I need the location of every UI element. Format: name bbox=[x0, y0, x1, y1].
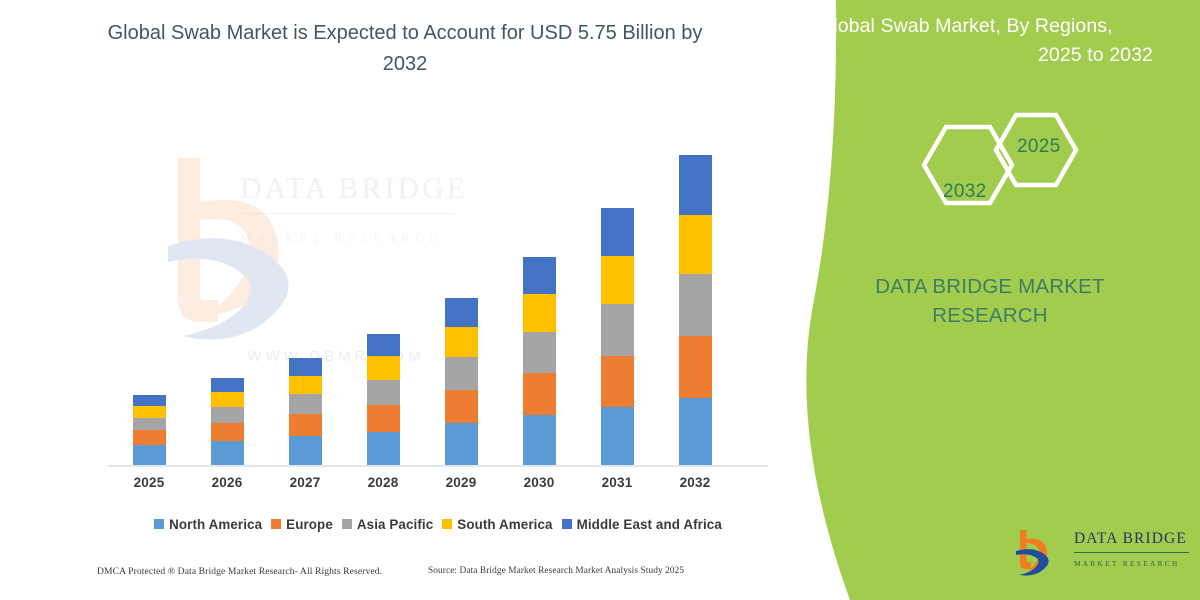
bar-segment-2029-north-america[interactable] bbox=[445, 423, 478, 465]
hexagon-label-2025: 2025 bbox=[1017, 136, 1060, 158]
x-axis-tick-labels: 20252026202720282029203020312032 bbox=[108, 475, 768, 501]
bar-segment-2025-europe[interactable] bbox=[133, 430, 166, 445]
footer: DMCA Protected ® Data Bridge Market Rese… bbox=[0, 566, 790, 590]
bar-segment-2026-south-america[interactable] bbox=[211, 392, 244, 407]
dbmr-logo-divider bbox=[1074, 552, 1189, 553]
x-label-2031: 2031 bbox=[587, 475, 647, 490]
dbmr-logo-tagline-wrap: MARKET RESEARCH bbox=[1074, 554, 1192, 568]
legend-swatch-europe bbox=[271, 519, 281, 529]
panel-brand-line2: RESEARCH bbox=[932, 304, 1048, 327]
legend-item-europe[interactable]: Europe bbox=[271, 517, 333, 532]
bar-segment-2032-europe[interactable] bbox=[679, 336, 712, 397]
bar-segment-2030-asia-pacific[interactable] bbox=[523, 332, 556, 373]
green-panel-content: Global Swab Market, By Regions, 2025 to … bbox=[780, 0, 1200, 600]
bar-2028[interactable] bbox=[367, 334, 400, 465]
legend-label-europe: Europe bbox=[286, 517, 333, 532]
dbmr-logo-mark bbox=[1014, 528, 1070, 578]
stacked-bar-plot bbox=[110, 140, 770, 466]
bar-segment-2030-middle-east-and-africa[interactable] bbox=[523, 257, 556, 294]
bar-segment-2025-south-america[interactable] bbox=[133, 406, 166, 418]
legend-label-north-america: North America bbox=[169, 517, 262, 532]
legend-swatch-south-america bbox=[442, 519, 452, 529]
bar-segment-2026-asia-pacific[interactable] bbox=[211, 407, 244, 423]
bar-segment-2028-south-america[interactable] bbox=[367, 356, 400, 380]
hexagon-label-2032: 2032 bbox=[943, 181, 986, 203]
bar-2025[interactable] bbox=[133, 395, 166, 465]
infographic-canvas: DATA BRIDGE MARKET RESEARCH WWW.DBMR.COM… bbox=[0, 0, 1200, 600]
bar-segment-2029-middle-east-and-africa[interactable] bbox=[445, 298, 478, 327]
bar-segment-2027-north-america[interactable] bbox=[289, 436, 322, 465]
legend-label-asia-pacific: Asia Pacific bbox=[357, 517, 433, 532]
bar-2027[interactable] bbox=[289, 358, 322, 465]
bar-segment-2025-middle-east-and-africa[interactable] bbox=[133, 395, 166, 406]
legend-item-south-america[interactable]: South America bbox=[442, 517, 552, 532]
bar-segment-2031-asia-pacific[interactable] bbox=[601, 304, 634, 355]
bar-segment-2028-europe[interactable] bbox=[367, 405, 400, 432]
bar-segment-2032-north-america[interactable] bbox=[679, 398, 712, 465]
legend-swatch-north-america bbox=[154, 519, 164, 529]
bar-segment-2030-north-america[interactable] bbox=[523, 415, 556, 465]
bar-segment-2029-south-america[interactable] bbox=[445, 327, 478, 357]
bar-segment-2032-middle-east-and-africa[interactable] bbox=[679, 155, 712, 215]
chart-title: Global Swab Market is Expected to Accoun… bbox=[95, 18, 715, 80]
x-label-2030: 2030 bbox=[509, 475, 569, 490]
chart-legend: North AmericaEuropeAsia PacificSouth Ame… bbox=[104, 512, 772, 536]
bar-segment-2028-asia-pacific[interactable] bbox=[367, 380, 400, 405]
bar-segment-2029-asia-pacific[interactable] bbox=[445, 357, 478, 389]
bar-segment-2027-asia-pacific[interactable] bbox=[289, 394, 322, 414]
bar-segment-2026-middle-east-and-africa[interactable] bbox=[211, 378, 244, 392]
legend-item-asia-pacific[interactable]: Asia Pacific bbox=[342, 517, 433, 532]
panel-title-line2: 2025 to 2032 bbox=[810, 41, 1165, 70]
panel-brand-line1: DATA BRIDGE MARKET bbox=[875, 275, 1105, 298]
panel-title: Global Swab Market, By Regions, 2025 to … bbox=[810, 12, 1165, 70]
footer-copyright: DMCA Protected ® Data Bridge Market Rese… bbox=[97, 566, 382, 577]
hexagon-group: 2032 2025 bbox=[908, 103, 1098, 218]
bar-2031[interactable] bbox=[601, 208, 634, 465]
bar-segment-2025-asia-pacific[interactable] bbox=[133, 418, 166, 430]
bar-segment-2029-europe[interactable] bbox=[445, 390, 478, 424]
legend-swatch-asia-pacific bbox=[342, 519, 352, 529]
panel-title-line1: Global Swab Market, By Regions, bbox=[810, 12, 1165, 41]
legend-label-south-america: South America bbox=[457, 517, 552, 532]
bar-2030[interactable] bbox=[523, 257, 556, 465]
x-label-2025: 2025 bbox=[119, 475, 179, 490]
x-label-2029: 2029 bbox=[431, 475, 491, 490]
bar-segment-2031-north-america[interactable] bbox=[601, 407, 634, 465]
x-label-2028: 2028 bbox=[353, 475, 413, 490]
dbmr-logo-tagline: MARKET RESEARCH bbox=[1074, 560, 1192, 568]
bar-segment-2027-middle-east-and-africa[interactable] bbox=[289, 358, 322, 376]
bar-segment-2031-south-america[interactable] bbox=[601, 256, 634, 305]
legend-item-north-america[interactable]: North America bbox=[154, 517, 262, 532]
bar-segment-2028-north-america[interactable] bbox=[367, 432, 400, 465]
bar-segment-2031-middle-east-and-africa[interactable] bbox=[601, 208, 634, 255]
bar-segment-2030-europe[interactable] bbox=[523, 373, 556, 415]
bar-segment-2025-north-america[interactable] bbox=[133, 445, 166, 465]
bar-segment-2027-south-america[interactable] bbox=[289, 376, 322, 395]
dbmr-logo-name: DATA BRIDGE bbox=[1074, 530, 1192, 548]
bar-2029[interactable] bbox=[445, 298, 478, 465]
dbmr-logo-text: DATA BRIDGE bbox=[1074, 530, 1192, 548]
chart-title-line1: Global Swab Market is Expected to Accoun… bbox=[108, 22, 617, 44]
bar-segment-2026-north-america[interactable] bbox=[211, 441, 244, 465]
bar-2032[interactable] bbox=[679, 155, 712, 465]
legend-item-middle-east-and-africa[interactable]: Middle East and Africa bbox=[562, 517, 722, 532]
footer-source: Source: Data Bridge Market Research Mark… bbox=[428, 566, 684, 576]
bar-segment-2032-asia-pacific[interactable] bbox=[679, 274, 712, 337]
bar-segment-2027-europe[interactable] bbox=[289, 414, 322, 436]
bar-segment-2031-europe[interactable] bbox=[601, 356, 634, 407]
bar-segment-2030-south-america[interactable] bbox=[523, 294, 556, 332]
x-label-2027: 2027 bbox=[275, 475, 335, 490]
panel-brand-text: DATA BRIDGE MARKET RESEARCH bbox=[800, 272, 1180, 330]
bar-2026[interactable] bbox=[211, 378, 244, 465]
bar-segment-2032-south-america[interactable] bbox=[679, 215, 712, 274]
legend-swatch-middle-east-and-africa bbox=[562, 519, 572, 529]
x-label-2026: 2026 bbox=[197, 475, 257, 490]
legend-label-middle-east-and-africa: Middle East and Africa bbox=[577, 517, 722, 532]
x-axis-line bbox=[108, 465, 768, 467]
x-label-2032: 2032 bbox=[665, 475, 725, 490]
bar-segment-2028-middle-east-and-africa[interactable] bbox=[367, 334, 400, 356]
bar-segment-2026-europe[interactable] bbox=[211, 423, 244, 441]
dbmr-logo: DATA BRIDGE MARKET RESEARCH bbox=[1014, 528, 1190, 580]
